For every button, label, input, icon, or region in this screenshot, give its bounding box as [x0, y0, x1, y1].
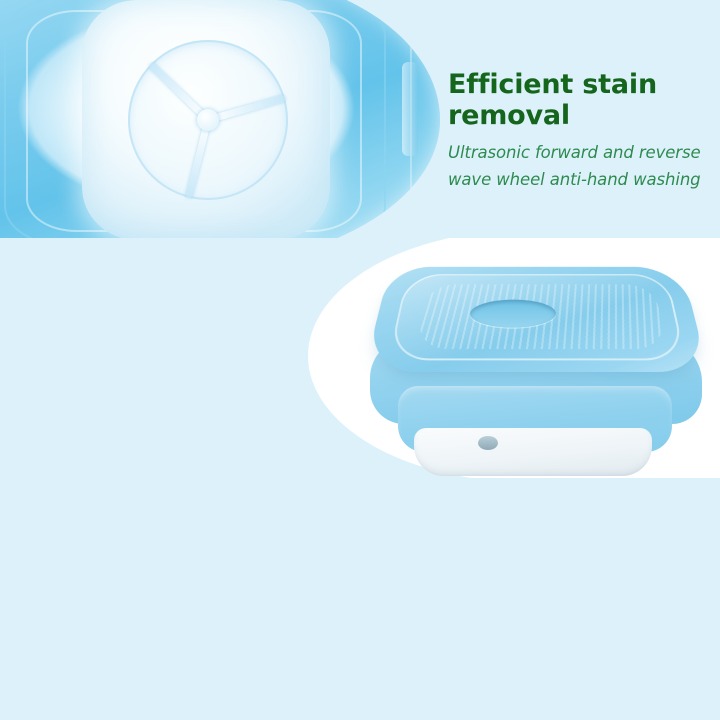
- infographic-page: Efficient stain removal Ultrasonic forwa…: [0, 0, 720, 720]
- machine-base: [414, 428, 652, 476]
- lid-handle-slot: [469, 300, 557, 328]
- pulsator-blade: [185, 119, 211, 198]
- stain-body-line: wave wheel anti-hand washing: [448, 167, 710, 194]
- folded-machine-body: [370, 252, 710, 478]
- tub-inner-basin: [82, 0, 330, 238]
- machine-lid: [364, 267, 709, 372]
- stain-body: Ultrasonic forward and reverse wave whee…: [448, 140, 710, 193]
- section-foldable: Foldable Travel, easy to put into the su…: [0, 238, 720, 478]
- washing-tub-top-view-image: [0, 0, 440, 238]
- pulsator-wheel: [128, 40, 288, 200]
- section-timing: 4 min 10 min 5 min T: [0, 478, 720, 720]
- section-efficient-stain-removal: Efficient stain removal Ultrasonic forwa…: [0, 0, 720, 238]
- stain-heading: Efficient stain removal: [448, 70, 710, 131]
- tub-clip-right: [402, 62, 418, 156]
- machine-base-vent: [478, 436, 498, 450]
- pulsator-hub: [197, 109, 219, 131]
- stain-body-line: Ultrasonic forward and reverse: [448, 140, 710, 167]
- stain-text-block: Efficient stain removal Ultrasonic forwa…: [448, 70, 710, 193]
- folded-washing-machine-image: [308, 238, 720, 478]
